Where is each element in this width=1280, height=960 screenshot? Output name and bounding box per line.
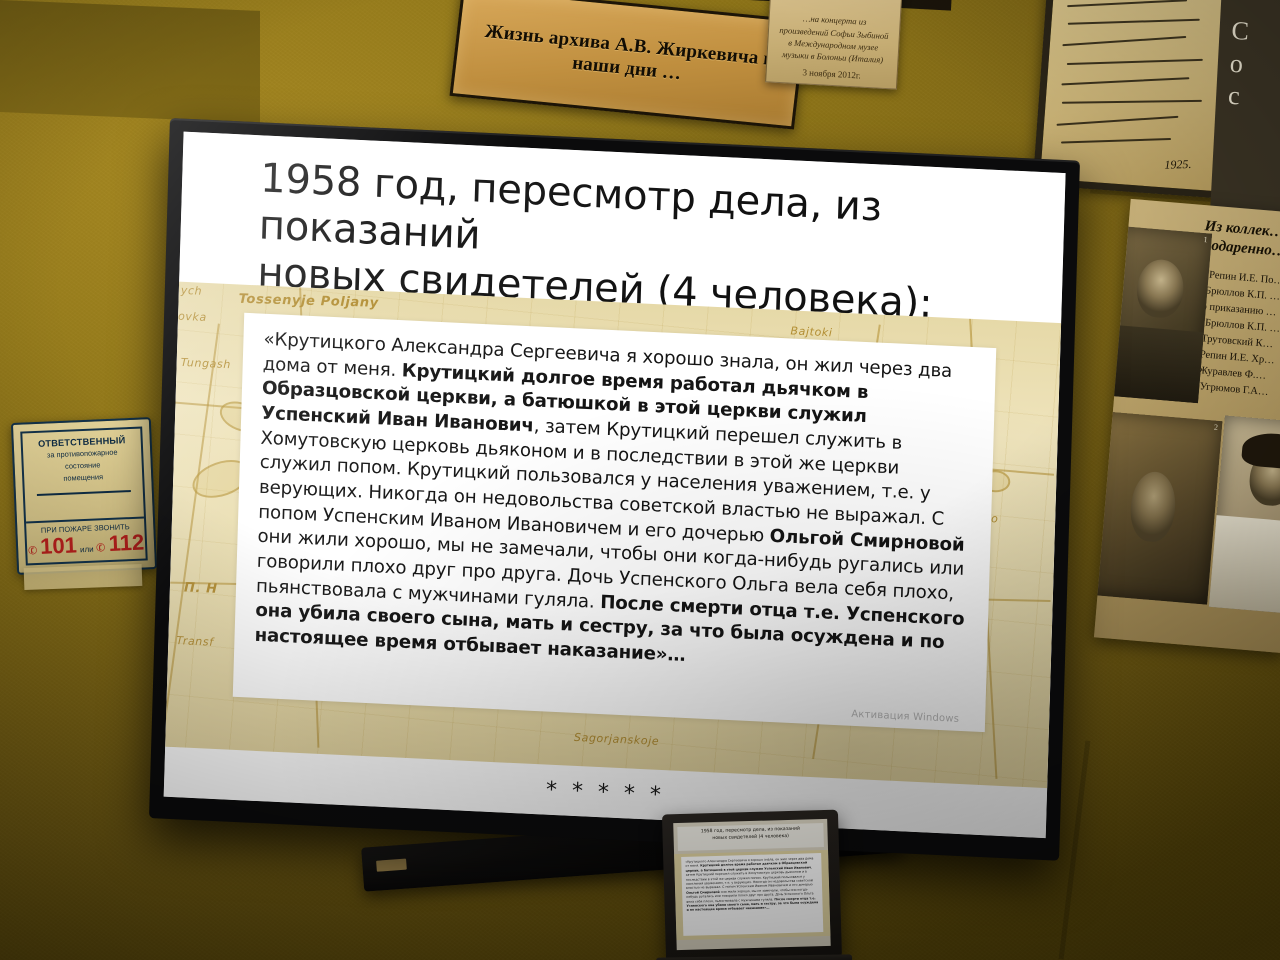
photo-vignette [0, 0, 1280, 960]
photo-scene: Жизнь архива А.В. Жиркевича в наши дни …… [0, 0, 1280, 960]
